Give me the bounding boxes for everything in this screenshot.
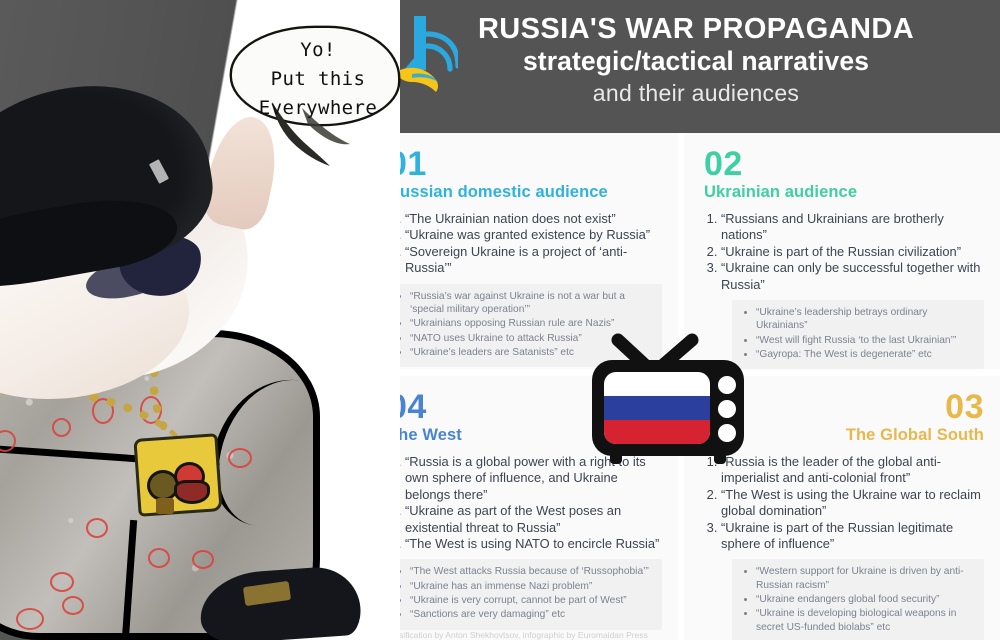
fabric-dot	[62, 596, 84, 615]
panel-02-tactical-list: “Ukraine’s leadership betrays ordinary U…	[738, 306, 976, 361]
list-item: “Sanctions are very damaging” etc	[410, 608, 654, 621]
list-item: “Ukraine’s leadership betrays ordinary U…	[756, 306, 976, 333]
bubble-line-3: Everywhere	[236, 94, 400, 123]
list-item: “West will fight Russia ‘to the last Ukr…	[756, 334, 976, 347]
list-item: “Russia’s war against Ukraine is not a w…	[410, 290, 654, 317]
list-item: “Ukraine endangers global food security”	[756, 593, 976, 606]
list-item: “Ukraine as part of the West poses an ex…	[405, 503, 662, 536]
speech-bubble-text: Yo! Put this Everywhere	[236, 36, 400, 120]
russian-flag-television-icon	[588, 332, 748, 470]
page-title-line2: strategic/tactical narratives	[523, 46, 869, 77]
fabric-dot	[86, 518, 108, 538]
fabric-dot	[148, 548, 170, 568]
panel-02-tactical-box: “Ukraine’s leadership betrays ordinary U…	[732, 300, 984, 369]
bubble-line-1: Yo!	[236, 36, 400, 65]
list-item: “Western support for Ukraine is driven b…	[756, 565, 976, 592]
list-item: “Ukraine can only be successful together…	[721, 260, 984, 293]
list-item: “Gayropa: The West is degenerate” etc	[756, 348, 976, 361]
list-item: “Ukraine is very corrupt, cannot be part…	[410, 594, 654, 607]
list-item: “The West attacks Russia because of ‘Rus…	[410, 565, 654, 578]
bubble-line-2: Put this	[236, 65, 400, 94]
footer-credit: Classification by Anton Shekhovtsov, inf…	[382, 630, 982, 640]
page-subtitle: and their audiences	[593, 79, 799, 108]
panel-01-number: 01	[388, 147, 662, 181]
fabric-dot	[50, 572, 74, 592]
panel-02-strategic-list: “Russians and Ukrainians are brotherly n…	[704, 211, 984, 293]
list-item: “Ukraine is part of the Russian legitima…	[721, 520, 984, 553]
fabric-dot	[16, 608, 44, 630]
ukraine-dove-broadcast-icon	[396, 12, 458, 96]
list-item: “Sovereign Ukraine is a project of ‘anti…	[405, 244, 662, 277]
screenshot-stage: RUSSIA'S WAR PROPAGANDA strategic/tactic…	[0, 0, 1000, 640]
panel-01-title: Russian domestic audience	[388, 182, 662, 202]
list-item: “The West is using the Ukraine war to re…	[721, 487, 984, 520]
pendant-tie	[156, 498, 174, 514]
panel-02-number: 02	[704, 147, 984, 181]
list-item: “Ukraine is part of the Russian civiliza…	[721, 244, 984, 260]
list-item: “Russia is the leader of the global anti…	[721, 454, 984, 487]
list-item: “The West is using NATO to encircle Russ…	[405, 536, 662, 552]
list-item: “Ukraine has an immense Nazi problem”	[410, 580, 654, 593]
panel-04-tactical-box: “The West attacks Russia because of ‘Rus…	[388, 559, 662, 629]
list-item: “Russians and Ukrainians are brotherly n…	[721, 211, 984, 244]
doge-meme-overlay: Yo! Put this Everywhere	[0, 0, 400, 640]
list-item: “Ukraine was granted existence by Russia…	[405, 227, 662, 243]
pendant-mouth	[174, 480, 210, 504]
page-title-line1: RUSSIA'S WAR PROPAGANDA	[478, 12, 914, 46]
header-text-block: RUSSIA'S WAR PROPAGANDA strategic/tactic…	[396, 6, 996, 128]
panel-03-tactical-list: “Western support for Ukraine is driven b…	[738, 565, 976, 633]
list-item: “The Ukrainian nation does not exist”	[405, 211, 662, 227]
panel-04-tactical-list: “The West attacks Russia because of ‘Rus…	[394, 565, 654, 621]
panel-03-tactical-box: “Western support for Ukraine is driven b…	[732, 559, 984, 640]
panel-02-title: Ukrainian audience	[704, 182, 984, 202]
fabric-dot	[192, 550, 214, 569]
panel-01-strategic-list: “The Ukrainian nation does not exist” “U…	[388, 211, 662, 277]
list-item: “Ukrainians opposing Russian rule are Na…	[410, 317, 654, 330]
